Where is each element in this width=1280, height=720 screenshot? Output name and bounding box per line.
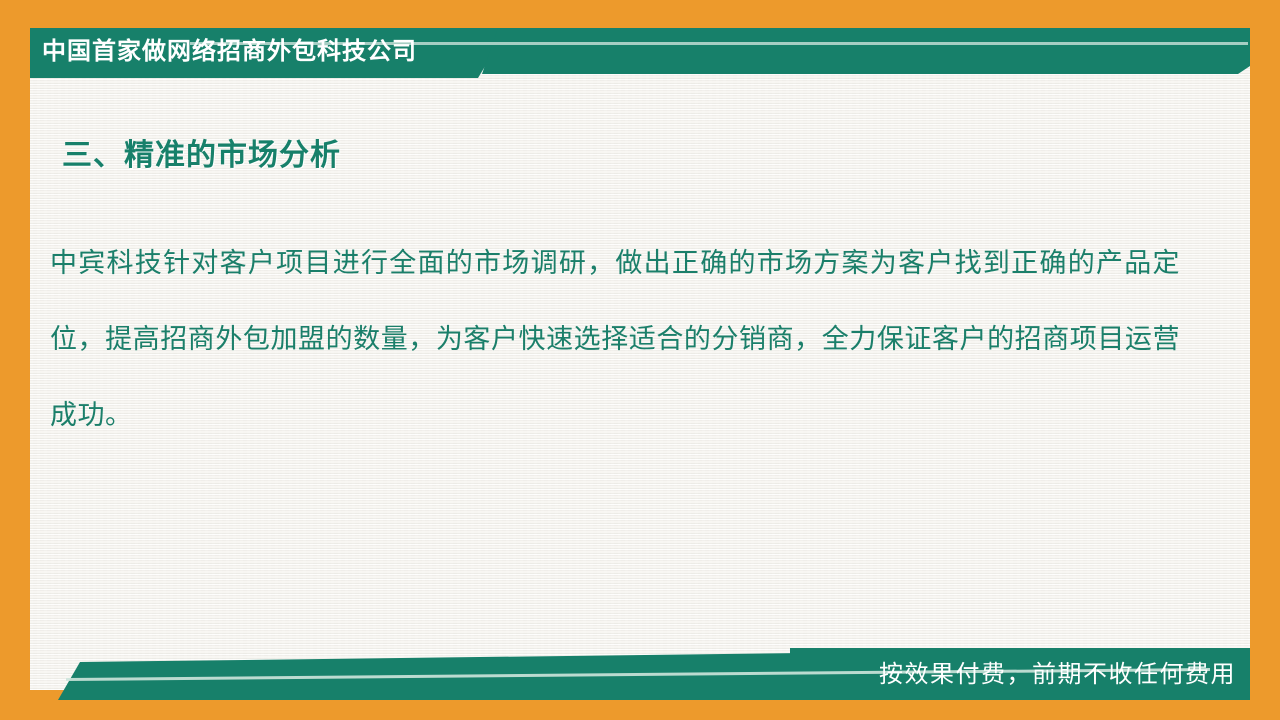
header-title: 中国首家做网络招商外包科技公司 <box>42 35 417 69</box>
slide-canvas: 中国首家做网络招商外包科技公司 三、精准的市场分析 中宾科技针对客户项目进行全面… <box>0 0 1280 720</box>
section-heading: 三、精准的市场分析 <box>62 136 341 176</box>
body-paragraph: 中宾科技针对客户项目进行全面的市场调研，做出正确的市场方案为客户找到正确的产品定… <box>50 226 1180 454</box>
footer-tagline: 按效果付费，前期不收任何费用 <box>879 654 1236 689</box>
body-copy: 中宾科技针对客户项目进行全面的市场调研，做出正确的市场方案为客户找到正确的产品定… <box>50 226 1180 454</box>
footer-tagline-wrap: 按效果付费，前期不收任何费用 <box>0 648 1250 692</box>
